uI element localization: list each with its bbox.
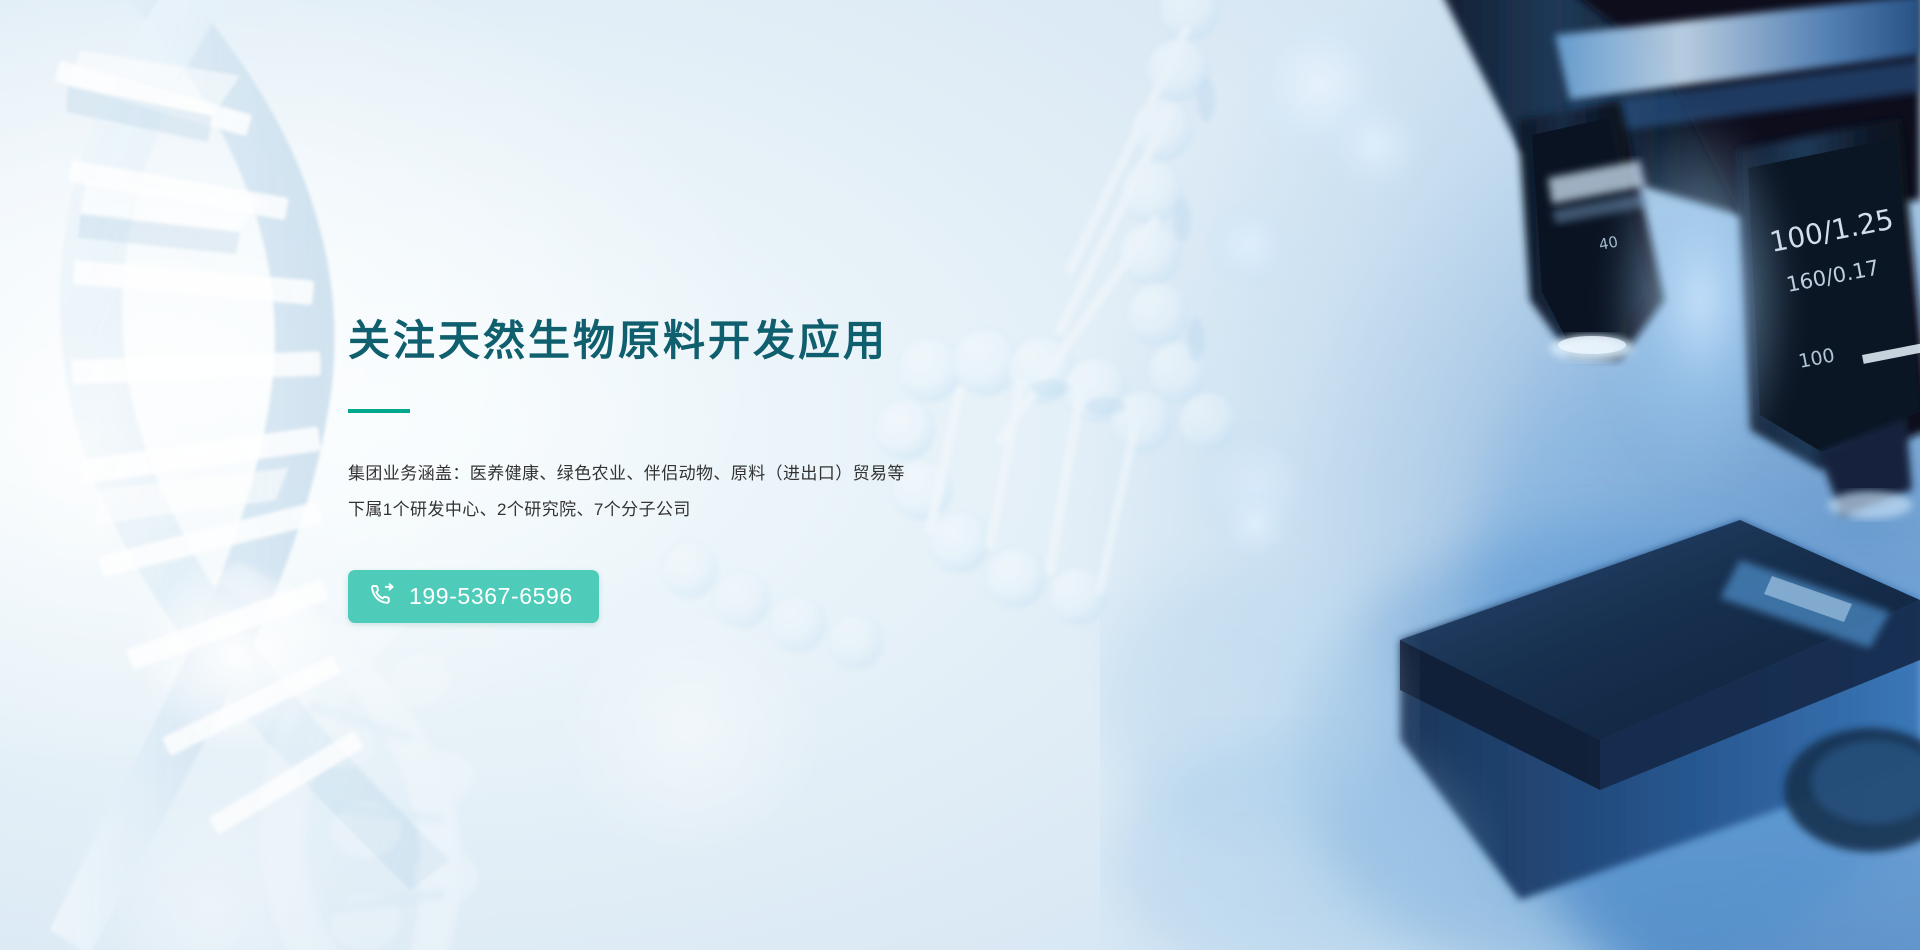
hero-description: 集团业务涵盖：医养健康、绿色农业、伴侣动物、原料（进出口）贸易等 下属1个研发中…	[348, 456, 988, 528]
hero-banner: 40 100/1.25 160/0.17 100	[0, 0, 1920, 950]
phone-number-label: 199-5367-6596	[409, 583, 573, 610]
page-title: 关注天然生物原料开发应用	[348, 316, 988, 366]
hero-content: 关注天然生物原料开发应用 集团业务涵盖：医养健康、绿色农业、伴侣动物、原料（进出…	[348, 316, 988, 623]
description-line-2: 下属1个研发中心、2个研究院、7个分子公司	[348, 492, 988, 528]
description-line-1: 集团业务涵盖：医养健康、绿色农业、伴侣动物、原料（进出口）贸易等	[348, 456, 988, 492]
accent-rule-divider	[348, 409, 410, 413]
phone-forwarded-icon	[370, 583, 396, 609]
phone-cta-button[interactable]: 199-5367-6596	[348, 570, 599, 623]
